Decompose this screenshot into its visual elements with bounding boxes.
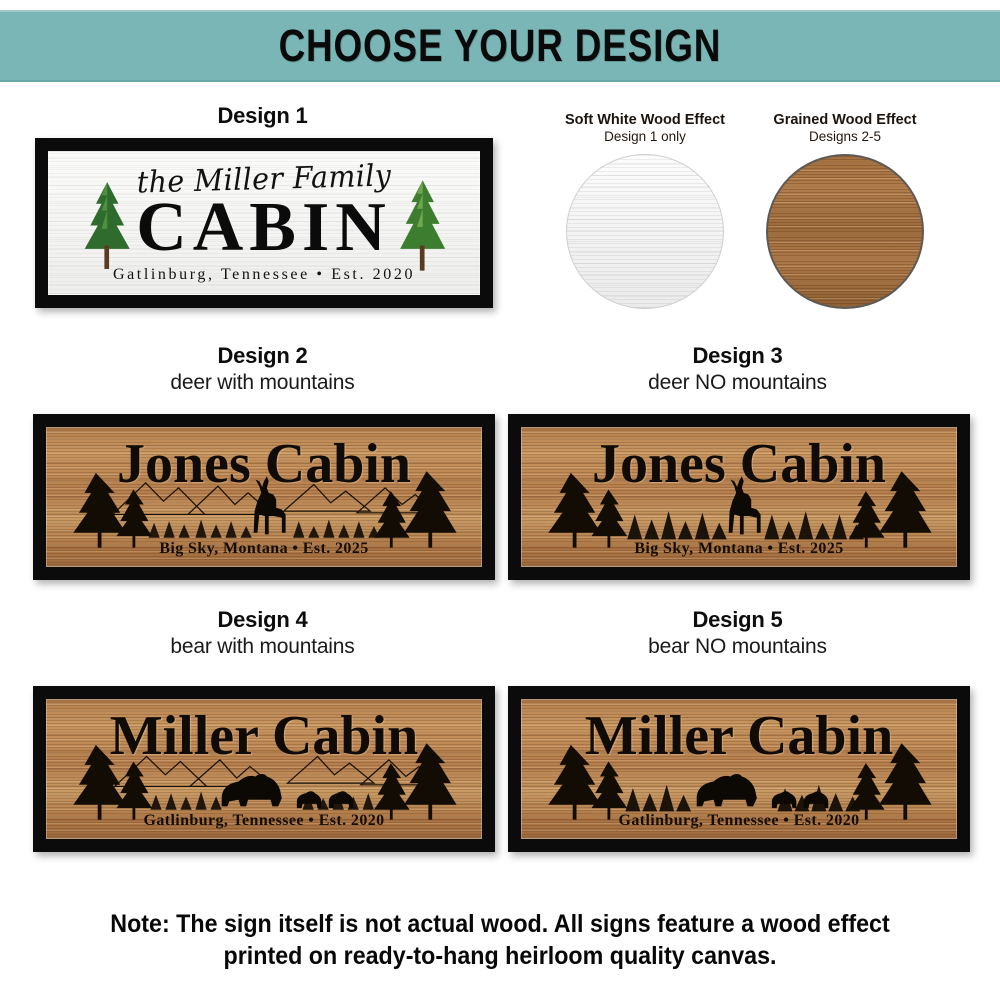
page-title: CHOOSE YOUR DESIGN [279,20,722,72]
design-3-title: Design 3 [505,344,970,369]
footer-note-line2: printed on ready-to-hang heirloom qualit… [63,941,937,973]
design-2-board: Jones Cabin Big Sky, Montana • Est. 2025 [46,427,482,567]
design-4-board: Miller Cabin Gatlinburg, Tennessee • Est… [46,699,482,839]
swatch-grained-wood-subtitle: Designs 2-5 [735,129,955,144]
swatch-soft-white-subtitle: Design 1 only [535,129,755,144]
swatch-soft-white-circle[interactable] [566,154,724,309]
design-4-title: Design 4 [30,608,495,633]
design-2-sign[interactable]: Jones Cabin Big Sky, Montana • Est. 2025 [33,414,495,580]
design-5-board: Miller Cabin Gatlinburg, Tennessee • Est… [521,699,957,839]
bear-silhouette [697,774,757,806]
design-4-subtitle: bear with mountains [30,635,495,659]
design-1-title: Design 1 [30,104,495,129]
design-3-label: Design 3 deer NO mountains [505,344,970,394]
design-5-main-text: Miller Cabin [522,708,956,764]
design-5-sign[interactable]: Miller Cabin Gatlinburg, Tennessee • Est… [508,686,970,852]
design-4-label: Design 4 bear with mountains [30,608,495,658]
design-4-sign[interactable]: Miller Cabin Gatlinburg, Tennessee • Est… [33,686,495,852]
design-5-label: Design 5 bear NO mountains [505,608,970,658]
footer-note-line1: Note: The sign itself is not actual wood… [63,909,937,941]
design-1-location-text: Gatlinburg, Tennessee • Est. 2020 [49,266,479,284]
design-1-label: Design 1 [30,104,495,129]
swatch-grained-wood-title: Grained Wood Effect [735,112,955,128]
swatch-grained-wood[interactable]: Grained Wood Effect Designs 2-5 [735,112,955,309]
design-1-sign[interactable]: the Miller Family CABIN Gatlinburg, Tenn… [35,138,493,308]
header-banner: CHOOSE YOUR DESIGN [0,10,1000,82]
design-2-label: Design 2 deer with mountains [30,344,495,394]
footer-note: Note: The sign itself is not actual wood… [63,909,937,972]
design-3-sign[interactable]: Jones Cabin Big Sky, Montana • Est. 2025 [508,414,970,580]
design-4-location-text: Gatlinburg, Tennessee • Est. 2020 [47,812,481,830]
design-4-main-text: Miller Cabin [47,708,481,764]
swatch-soft-white-wood[interactable]: Soft White Wood Effect Design 1 only [535,112,755,309]
design-3-board: Jones Cabin Big Sky, Montana • Est. 2025 [521,427,957,567]
design-2-subtitle: deer with mountains [30,371,495,395]
design-1-main-text: CABIN [49,193,479,263]
swatch-soft-white-title: Soft White Wood Effect [535,112,755,128]
design-3-location-text: Big Sky, Montana • Est. 2025 [522,540,956,558]
design-3-subtitle: deer NO mountains [505,371,970,395]
swatch-grained-wood-circle[interactable] [766,154,924,309]
design-3-main-text: Jones Cabin [522,436,956,492]
design-1-board: the Miller Family CABIN Gatlinburg, Tenn… [48,151,480,295]
bear-silhouette [222,774,282,806]
design-2-location-text: Big Sky, Montana • Est. 2025 [47,540,481,558]
design-5-subtitle: bear NO mountains [505,635,970,659]
design-2-main-text: Jones Cabin [47,436,481,492]
design-5-location-text: Gatlinburg, Tennessee • Est. 2020 [522,812,956,830]
design-2-title: Design 2 [30,344,495,369]
design-5-title: Design 5 [505,608,970,633]
